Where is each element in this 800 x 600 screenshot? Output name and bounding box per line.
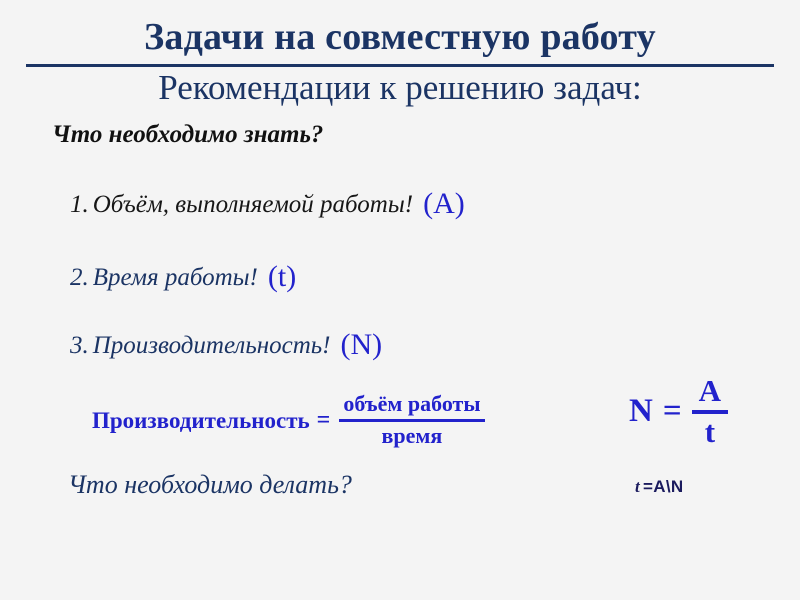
slide-title: Задачи на совместную работу bbox=[0, 18, 800, 58]
list-item-number: 1. bbox=[70, 191, 89, 218]
slide-subtitle: Рекомендации к решению задач: bbox=[0, 70, 800, 107]
list-item-label: Производительность! bbox=[93, 332, 331, 359]
list-item: 2. Время работы! (t) bbox=[70, 261, 296, 291]
fraction-bar bbox=[339, 419, 484, 422]
list-item-symbol: (N) bbox=[334, 328, 382, 361]
word-formula-lhs: Производительность bbox=[92, 409, 310, 432]
list-item-symbol: (A) bbox=[417, 187, 465, 220]
symbol-formula-denominator: t bbox=[698, 416, 722, 449]
symbol-formula: N = A t bbox=[629, 375, 728, 448]
symbol-formula-equals: = bbox=[653, 395, 692, 428]
word-formula-equals: = bbox=[310, 408, 340, 432]
list-item-number: 3. bbox=[70, 332, 89, 359]
slide-canvas: Задачи на совместную работу Рекомендации… bbox=[0, 0, 800, 600]
word-formula-numerator: объём работы bbox=[339, 392, 484, 417]
list-item-label: Время работы! bbox=[93, 264, 258, 291]
fraction-bar bbox=[692, 410, 728, 414]
word-formula-fraction: объём работы время bbox=[339, 392, 484, 448]
small-formula-variable: t bbox=[635, 477, 643, 496]
symbol-formula-lhs: N bbox=[629, 395, 653, 428]
list-item-symbol: (t) bbox=[262, 260, 296, 293]
list-item: 3. Производительность! (N) bbox=[70, 329, 382, 359]
word-formula-denominator: время bbox=[378, 424, 447, 449]
question-what-to-know: Что необходимо знать? bbox=[52, 121, 323, 149]
list-item: 1. Объём, выполняемой работы! (A) bbox=[70, 188, 465, 218]
symbol-formula-numerator: A bbox=[692, 375, 728, 408]
title-underline bbox=[26, 64, 774, 67]
symbol-formula-fraction: A t bbox=[692, 375, 728, 448]
small-formula: t=A\N bbox=[635, 477, 683, 497]
list-item-number: 2. bbox=[70, 264, 89, 291]
list-item-label: Объём, выполняемой работы! bbox=[93, 191, 413, 218]
question-what-to-do: Что необходимо делать? bbox=[68, 470, 352, 500]
word-formula: Производительность = объём работы время bbox=[92, 392, 485, 448]
small-formula-expression: =A\N bbox=[643, 477, 683, 496]
